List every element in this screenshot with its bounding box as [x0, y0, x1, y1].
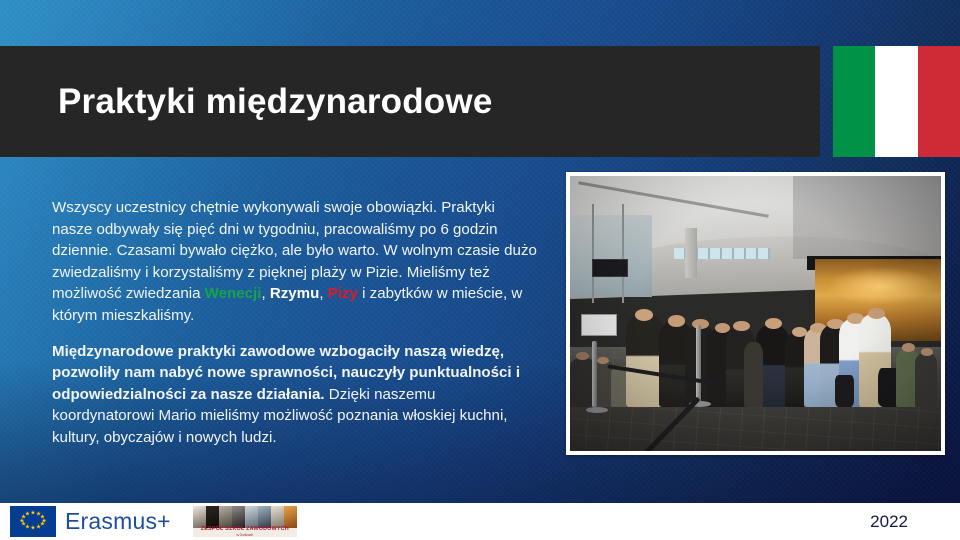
paragraph-2: Międzynarodowe praktyki zawodowe wzbogac… — [52, 341, 538, 449]
photo-vignette — [570, 176, 941, 451]
school-logo-subtitle: w Gorlicach — [193, 533, 297, 537]
title-bar: Praktyki międzynarodowe — [0, 46, 820, 157]
separator-2: , — [319, 285, 327, 302]
photo-frame — [566, 172, 945, 455]
school-logo-photo — [232, 506, 245, 528]
school-logo-photo — [219, 506, 232, 528]
city-pisa: Pizy — [328, 285, 358, 302]
school-logo-photo — [271, 506, 284, 528]
school-logo-photostrip — [193, 506, 297, 528]
city-rome: Rzymu — [270, 285, 319, 302]
presentation-slide: Praktyki międzynarodowe Wszyscy uczestni… — [0, 0, 960, 540]
italy-flag-red-stripe — [918, 46, 960, 157]
eu-flag-icon — [10, 506, 56, 537]
city-venice: Wenecji — [205, 285, 262, 302]
paragraph-1: Wszyscy uczestnicy chętnie wykonywali sw… — [52, 197, 538, 327]
school-logo-name: ZESPÓŁ SZKÓŁ ZAWODOWYCH — [193, 526, 297, 532]
school-logo-photo — [245, 506, 258, 528]
school-logo: ZESPÓŁ SZKÓŁ ZAWODOWYCH w Gorlicach — [193, 506, 297, 537]
slide-footer: Erasmus+ ZESPÓŁ SZKÓŁ ZAWODOWYCH w Gorli… — [0, 503, 960, 540]
erasmus-label: Erasmus+ — [65, 508, 171, 535]
group-photo — [570, 176, 941, 451]
body-text-block: Wszyscy uczestnicy chętnie wykonywali sw… — [52, 197, 538, 449]
paragraph-2-bold: Międzynarodowe praktyki zawodowe wzbogac… — [52, 343, 520, 403]
school-logo-photo — [284, 506, 297, 528]
school-logo-photo — [193, 506, 206, 528]
year-label: 2022 — [870, 512, 908, 532]
school-logo-photo — [258, 506, 271, 528]
school-logo-photo — [206, 506, 219, 528]
italy-flag-icon — [833, 46, 960, 157]
page-title: Praktyki międzynarodowe — [58, 82, 492, 122]
eu-stars — [10, 506, 56, 537]
separator-1: , — [261, 285, 269, 302]
erasmus-logo: Erasmus+ — [10, 506, 171, 537]
italy-flag-white-stripe — [875, 46, 917, 157]
italy-flag-green-stripe — [833, 46, 875, 157]
